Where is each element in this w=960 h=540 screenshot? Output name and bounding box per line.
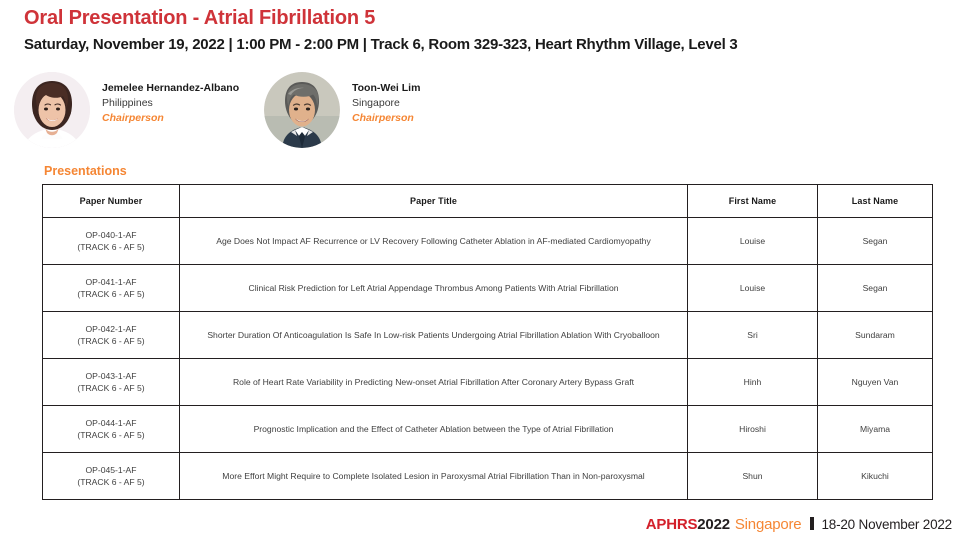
cell-paper-number: OP-042-1-AF (TRACK 6 - AF 5) — [43, 312, 180, 359]
cell-paper-title: Clinical Risk Prediction for Left Atrial… — [180, 265, 688, 312]
cell-first-name: Hiroshi — [688, 406, 818, 453]
column-header-first-name: First Name — [688, 185, 818, 218]
presentations-heading: Presentations — [44, 164, 127, 178]
cell-paper-title: Shorter Duration Of Anticoagulation Is S… — [180, 312, 688, 359]
table-row: OP-041-1-AF (TRACK 6 - AF 5) Clinical Ri… — [43, 265, 933, 312]
chairperson-role: Chairperson — [102, 111, 239, 126]
table-row: OP-044-1-AF (TRACK 6 - AF 5) Prognostic … — [43, 406, 933, 453]
cell-paper-title: More Effort Might Require to Complete Is… — [180, 453, 688, 500]
cell-last-name: Miyama — [818, 406, 933, 453]
column-header-paper-number: Paper Number — [43, 185, 180, 218]
cell-first-name: Louise — [688, 218, 818, 265]
cell-paper-title: Role of Heart Rate Variability in Predic… — [180, 359, 688, 406]
column-header-last-name: Last Name — [818, 185, 933, 218]
chairperson-card: Toon-Wei Lim Singapore Chairperson — [264, 72, 514, 148]
cell-first-name: Sri — [688, 312, 818, 359]
chairperson-name: Toon-Wei Lim — [352, 81, 420, 96]
avatar — [14, 72, 90, 148]
column-header-paper-title: Paper Title — [180, 185, 688, 218]
page-title: Oral Presentation - Atrial Fibrillation … — [24, 7, 375, 30]
cell-paper-number: OP-041-1-AF (TRACK 6 - AF 5) — [43, 265, 180, 312]
table-row: OP-045-1-AF (TRACK 6 - AF 5) More Effort… — [43, 453, 933, 500]
cell-paper-number: OP-040-1-AF (TRACK 6 - AF 5) — [43, 218, 180, 265]
cell-last-name: Segan — [818, 265, 933, 312]
cell-paper-title: Prognostic Implication and the Effect of… — [180, 406, 688, 453]
cell-paper-number: OP-044-1-AF (TRACK 6 - AF 5) — [43, 406, 180, 453]
table-row: OP-042-1-AF (TRACK 6 - AF 5) Shorter Dur… — [43, 312, 933, 359]
presentations-table: Paper Number Paper Title First Name Last… — [42, 184, 933, 500]
cell-paper-title: Age Does Not Impact AF Recurrence or LV … — [180, 218, 688, 265]
cell-first-name: Hinh — [688, 359, 818, 406]
cell-paper-number: OP-043-1-AF (TRACK 6 - AF 5) — [43, 359, 180, 406]
footer-dates-text: 18-20 November 2022 — [821, 517, 952, 532]
brand-aphrs-text: APHRS — [646, 516, 698, 533]
cell-paper-number: OP-045-1-AF (TRACK 6 - AF 5) — [43, 453, 180, 500]
separator-bar-icon — [810, 517, 814, 530]
chairperson-country: Singapore — [352, 96, 420, 111]
table-header-row: Paper Number Paper Title First Name Last… — [43, 185, 933, 218]
chairperson-card: Jemelee Hernandez-Albano Philippines Cha… — [14, 72, 264, 148]
chairperson-list: Jemelee Hernandez-Albano Philippines Cha… — [14, 72, 514, 148]
avatar — [264, 72, 340, 148]
footer-branding: APHRS 2022 Singapore 18-20 November 2022 — [646, 516, 952, 533]
cell-first-name: Shun — [688, 453, 818, 500]
cell-first-name: Louise — [688, 265, 818, 312]
cell-last-name: Kikuchi — [818, 453, 933, 500]
cell-last-name: Nguyen Van — [818, 359, 933, 406]
chairperson-role: Chairperson — [352, 111, 420, 126]
session-details: Saturday, November 19, 2022 | 1:00 PM - … — [24, 36, 738, 53]
presentations-table-container: Paper Number Paper Title First Name Last… — [42, 184, 932, 500]
brand-city-text: Singapore — [735, 516, 802, 533]
brand-year-text: 2022 — [697, 516, 730, 533]
table-row: OP-040-1-AF (TRACK 6 - AF 5) Age Does No… — [43, 218, 933, 265]
chairperson-country: Philippines — [102, 96, 239, 111]
cell-last-name: Sundaram — [818, 312, 933, 359]
table-row: OP-043-1-AF (TRACK 6 - AF 5) Role of Hea… — [43, 359, 933, 406]
cell-last-name: Segan — [818, 218, 933, 265]
table-body: OP-040-1-AF (TRACK 6 - AF 5) Age Does No… — [43, 218, 933, 500]
chairperson-name: Jemelee Hernandez-Albano — [102, 81, 239, 96]
